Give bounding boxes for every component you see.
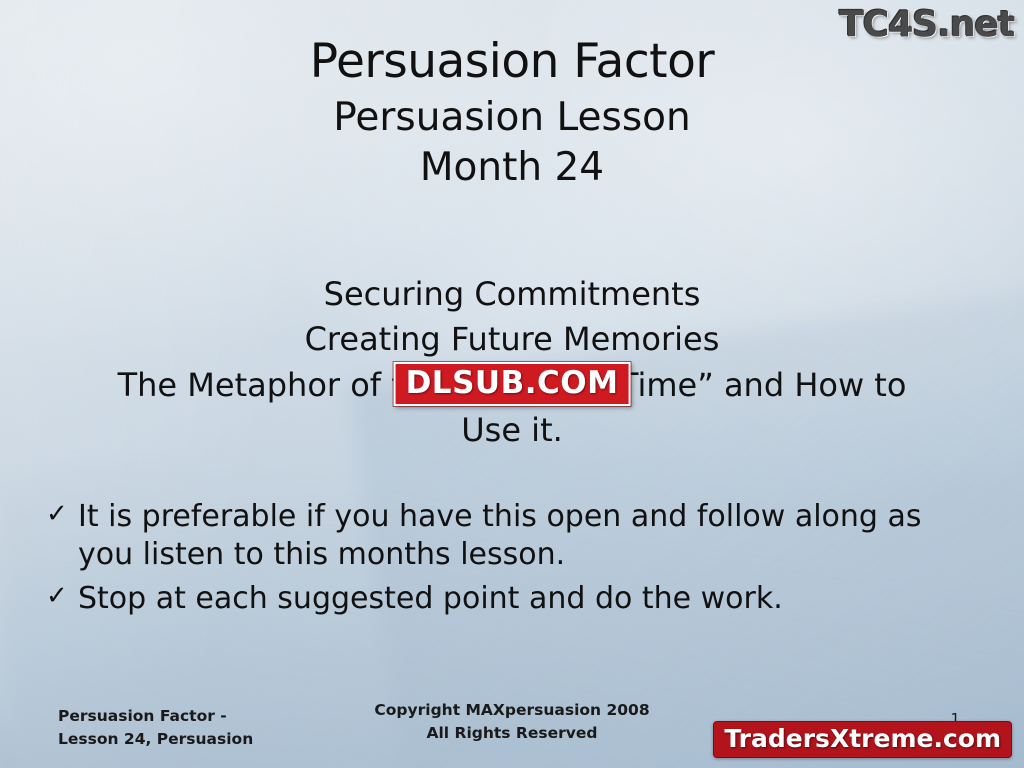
slide-title: Persuasion Factor Persuasion Lesson Mont… bbox=[0, 38, 1024, 187]
checkmark-icon: ✓ bbox=[46, 580, 76, 614]
title-line-3: Month 24 bbox=[0, 148, 1024, 188]
tradersxtreme-logo: TradersXtreme.com bbox=[713, 721, 1012, 758]
list-item-label: It is preferable if you have this open a… bbox=[76, 498, 976, 574]
subtitle-line-1: Securing Commitments bbox=[0, 272, 1024, 317]
subtitle-line-4: Use it. bbox=[0, 408, 1024, 453]
checkmark-icon: ✓ bbox=[46, 498, 76, 532]
title-line-2: Persuasion Lesson bbox=[0, 98, 1024, 138]
bullet-list: ✓ It is preferable if you have this open… bbox=[46, 498, 976, 623]
subtitle-line-2: Creating Future Memories bbox=[0, 317, 1024, 362]
dlsub-watermark: DLSUB.COM bbox=[394, 362, 631, 406]
list-item-label: Stop at each suggested point and do the … bbox=[76, 580, 976, 618]
list-item: ✓ It is preferable if you have this open… bbox=[46, 498, 976, 574]
list-item: ✓ Stop at each suggested point and do th… bbox=[46, 580, 976, 618]
title-line-1: Persuasion Factor bbox=[0, 38, 1024, 86]
footer-copyright-line-1: Copyright MAXpersuasion 2008 bbox=[0, 699, 1024, 721]
presentation-slide: TC4S.net Persuasion Factor Persuasion Le… bbox=[0, 0, 1024, 768]
